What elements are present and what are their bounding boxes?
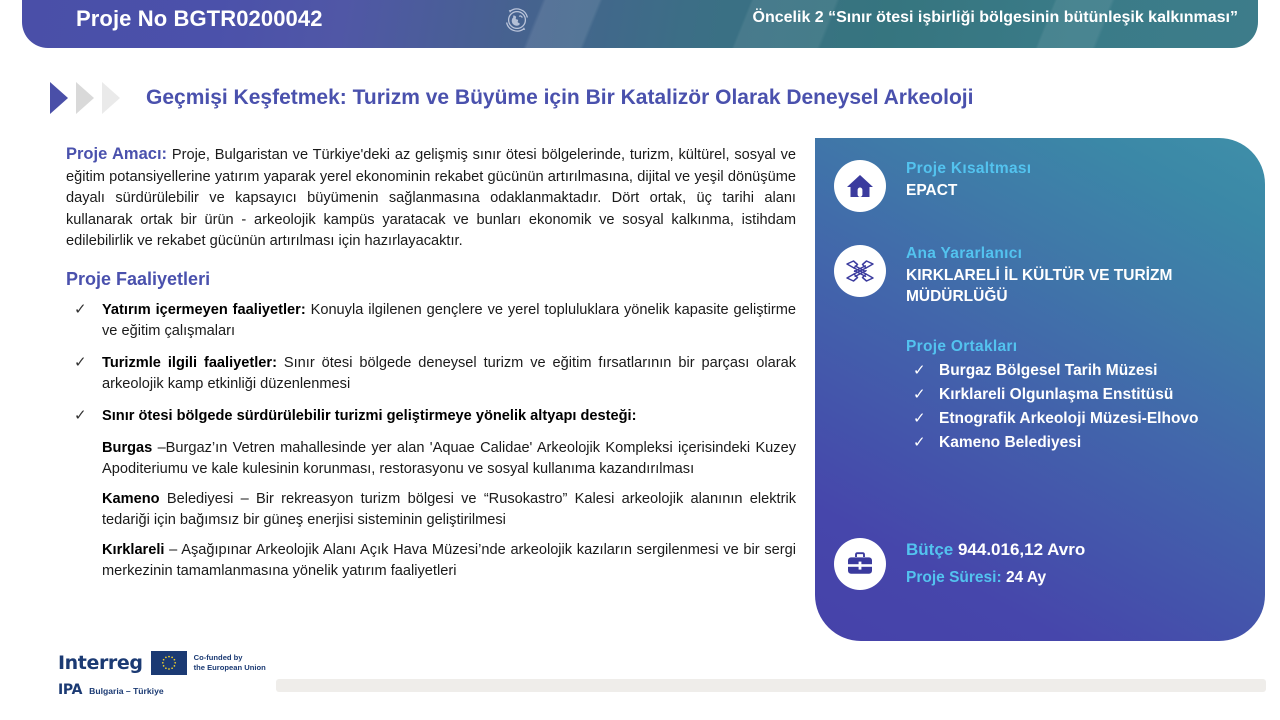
project-aim-paragraph: Proje Amacı: Proje, Bulgaristan ve Türki…	[66, 144, 796, 253]
activities-list: ✓ Yatırım içermeyen faaliyetler: Konuyla…	[66, 300, 796, 582]
check-icon: ✓	[913, 359, 926, 383]
check-icon: ✓	[74, 352, 87, 373]
arrow-icon-tertiary	[102, 82, 120, 114]
left-content-column: Proje Amacı: Proje, Bulgaristan ve Türki…	[66, 144, 796, 591]
budget-block: Bütçe 944.016,12 Avro Proje Süresi: 24 A…	[906, 540, 1246, 587]
arrow-icon-secondary	[76, 82, 94, 114]
list-item: ✓ Kameno Belediyesi	[906, 431, 1256, 455]
duration-label: Proje Süresi:	[906, 569, 1002, 586]
interreg-wordmark: Interreg	[58, 652, 143, 674]
sub-activity-text: –Burgaz’ın Vetren mahallesinde yer alan …	[102, 440, 796, 477]
sub-activity-text: – Aşağıpınar Arkeolojik Alanı Açık Hava …	[102, 542, 796, 579]
list-item: ✓ Kırklareli Olgunlaşma Enstitüsü	[906, 383, 1256, 407]
sub-activity-bold: Burgas	[102, 440, 152, 456]
arrow-icon-primary	[50, 82, 68, 114]
header-bar: Proje No BGTR0200042 Öncelik 2 “Sınır öt…	[22, 0, 1258, 48]
budget-line: Bütçe 944.016,12 Avro	[906, 540, 1246, 560]
info-row-beneficiary: Ana Yararlanıcı KIRKLARELİ İL KÜLTÜR VE …	[834, 245, 1254, 307]
interreg-logo: Interreg	[58, 650, 308, 702]
partner-name: Kameno Belediyesi	[939, 434, 1081, 451]
list-item: ✓ Yatırım içermeyen faaliyetler: Konuyla…	[66, 300, 796, 342]
eu-flag-icon	[151, 651, 187, 675]
info-row-budget-icon	[834, 538, 886, 590]
sub-activity-kameno: Kameno Belediyesi – Bir rekreasyon turiz…	[66, 489, 796, 531]
handshake-icon	[834, 245, 886, 297]
beneficiary-value: KIRKLARELİ İL KÜLTÜR VE TURİZM MÜDÜRLÜĞÜ	[906, 265, 1226, 307]
acronym-value: EPACT	[906, 180, 1031, 201]
info-row-acronym: Proje Kısaltması EPACT	[834, 160, 1031, 212]
list-item-bold: Yatırım içermeyen faaliyetler:	[102, 302, 306, 318]
partners-block: Proje Ortakları ✓ Burgaz Bölgesel Tarih …	[906, 338, 1256, 455]
sub-activity-kirklareli: Kırklareli – Aşağıpınar Arkeolojik Alanı…	[66, 540, 796, 582]
list-item-bold: Turizmle ilgili faaliyetler:	[102, 355, 277, 371]
budget-label: Bütçe	[906, 540, 953, 559]
check-icon: ✓	[913, 431, 926, 455]
duration-value: 24 Ay	[1006, 569, 1046, 586]
partner-name: Burgaz Bölgesel Tarih Müzesi	[939, 362, 1157, 379]
cofunded-text: Co-funded by the European Union	[194, 653, 266, 672]
project-aim-body: Proje, Bulgaristan ve Türkiye'deki az ge…	[66, 147, 796, 249]
sub-activity-text: Belediyesi – Bir rekreasyon turizm bölge…	[102, 491, 796, 528]
briefcase-icon	[834, 538, 886, 590]
check-icon: ✓	[913, 383, 926, 407]
partners-label: Proje Ortakları	[906, 338, 1256, 356]
slide-canvas: Proje No BGTR0200042 Öncelik 2 “Sınır öt…	[0, 0, 1280, 720]
project-aim-label: Proje Amacı:	[66, 145, 167, 163]
cofunded-line-2: the European Union	[194, 663, 266, 672]
house-icon	[834, 160, 886, 212]
list-item: ✓ Etnografik Arkeoloji Müzesi-Elhovo	[906, 407, 1256, 431]
bottom-divider-bar	[276, 679, 1266, 692]
duration-line: Proje Süresi: 24 Ay	[906, 569, 1246, 587]
check-icon: ✓	[74, 405, 87, 426]
globe-refresh-icon	[500, 4, 534, 36]
budget-value: 944.016,12 Avro	[958, 540, 1085, 559]
project-number: Proje No BGTR0200042	[76, 6, 323, 32]
acronym-label: Proje Kısaltması	[906, 160, 1031, 178]
check-icon: ✓	[913, 407, 926, 431]
activities-heading: Proje Faaliyetleri	[66, 269, 796, 290]
sub-activity-bold: Kırklareli	[102, 542, 164, 558]
beneficiary-label: Ana Yararlanıcı	[906, 245, 1226, 263]
ipa-wordmark: IPA	[58, 682, 82, 698]
list-item: ✓ Sınır ötesi bölgede sürdürülebilir tur…	[66, 406, 796, 427]
title-row: Geçmişi Keşfetmek: Turizm ve Büyüme için…	[50, 78, 1200, 118]
partner-name: Kırklareli Olgunlaşma Enstitüsü	[939, 386, 1173, 403]
list-item: ✓ Burgaz Bölgesel Tarih Müzesi	[906, 359, 1256, 383]
sub-activity-bold: Kameno	[102, 491, 160, 507]
cofunded-line-1: Co-funded by	[194, 653, 243, 662]
ipa-subtitle: Bulgaria – Türkiye	[89, 686, 164, 696]
priority-text: Öncelik 2 “Sınır ötesi işbirliği bölgesi…	[753, 9, 1238, 27]
list-item-bold: Sınır ötesi bölgede sürdürülebilir turiz…	[102, 408, 636, 424]
list-item: ✓ Turizmle ilgili faaliyetler: Sınır öte…	[66, 353, 796, 395]
check-icon: ✓	[74, 299, 87, 320]
partner-name: Etnografik Arkeoloji Müzesi-Elhovo	[939, 410, 1199, 427]
sub-activity-burgas: Burgas –Burgaz’ın Vetren mahallesinde ye…	[66, 438, 796, 480]
page-title: Geçmişi Keşfetmek: Turizm ve Büyüme için…	[146, 86, 973, 110]
